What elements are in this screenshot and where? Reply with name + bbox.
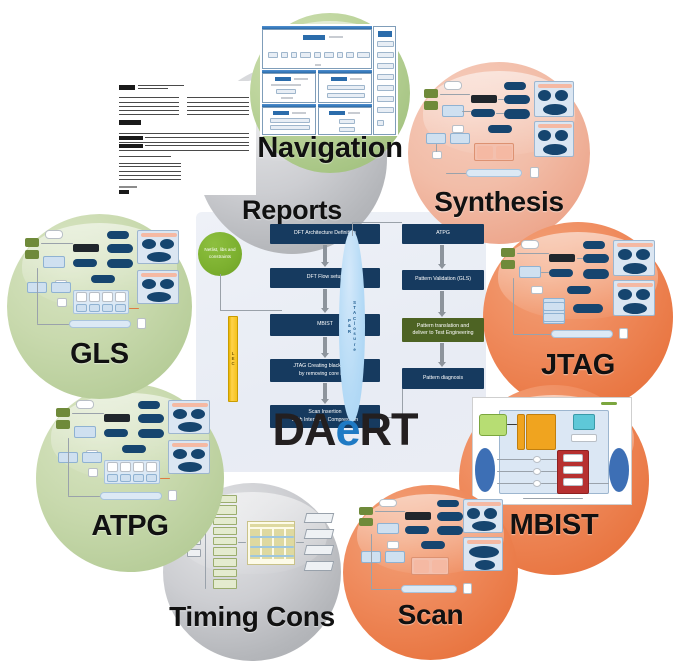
flow-arrow <box>323 337 327 354</box>
daert-part2: RT <box>360 404 418 455</box>
bubble-label-navigation: Navigation <box>250 132 410 165</box>
report-document-thumbnail <box>115 81 256 195</box>
flow-arrow <box>323 245 327 263</box>
flow-arrow <box>323 289 327 309</box>
flow-arrow <box>323 383 327 400</box>
flow-diagram-thumbnail <box>422 77 577 187</box>
pr-vertical-label: P & R <box>348 318 351 334</box>
flow-arrow <box>440 245 444 265</box>
flow-box-atpg: ATPG <box>402 224 484 244</box>
daert-part1: DA <box>272 404 335 455</box>
lec-bar: L E C <box>228 316 238 402</box>
bubble-jtag[interactable]: JTAG <box>483 222 673 412</box>
connector <box>352 222 402 223</box>
pr-letter: R <box>348 329 351 334</box>
sta-closure-vertical-label: S T A C l o s u r e <box>353 300 356 352</box>
flow-arrow <box>440 291 444 313</box>
flow-diagram-thumbnail <box>357 497 505 601</box>
flow-diagram-thumbnail <box>54 398 212 508</box>
sta-closure-ellipse: P & R S T A C l o s u r e <box>339 230 365 422</box>
flow-box-pattern-validation: Pattern Validation (GLS) <box>402 270 484 290</box>
daert-accent-e: e <box>335 404 359 455</box>
bubble-label-jtag: JTAG <box>483 349 673 382</box>
connector <box>220 274 221 310</box>
bubble-label-gls: GLS <box>7 338 192 371</box>
flow-input-node: Netlist, libs and constraints <box>198 232 242 276</box>
connector <box>220 310 282 311</box>
daert-overview-diagram: Reports <box>0 0 680 668</box>
flow-diagram-thumbnail <box>23 228 181 336</box>
bubble-scan[interactable]: Scan <box>343 485 518 660</box>
flow-box-line: Pattern translation and <box>412 323 473 330</box>
flow-box-dft-architecture-definition: DFT Architecture Definition <box>270 224 380 244</box>
daert-logo-title: DAeRT <box>240 404 450 456</box>
flow-box-pattern-translation: Pattern translation and deliver to Test … <box>402 318 484 342</box>
mbist-block-diagram-thumbnail <box>472 397 632 505</box>
lec-letter: C <box>231 362 234 366</box>
flow-diagram-thumbnail <box>499 236 659 350</box>
flow-box-line: deliver to Test Engineering <box>412 330 473 337</box>
bubble-label-atpg: ATPG <box>36 510 224 543</box>
gui-navigation-thumbnail <box>260 24 398 136</box>
sta-letter: e <box>353 347 355 352</box>
flow-box-pattern-diagnosis: Pattern diagnosis <box>402 368 484 389</box>
connector <box>352 222 353 236</box>
bubble-label-timing-cons: Timing Cons <box>163 601 341 633</box>
bubble-navigation[interactable]: Navigation <box>250 13 410 173</box>
bubble-label-scan: Scan <box>343 599 518 631</box>
bubble-gls[interactable]: GLS <box>7 214 192 399</box>
flow-arrow <box>440 343 444 363</box>
